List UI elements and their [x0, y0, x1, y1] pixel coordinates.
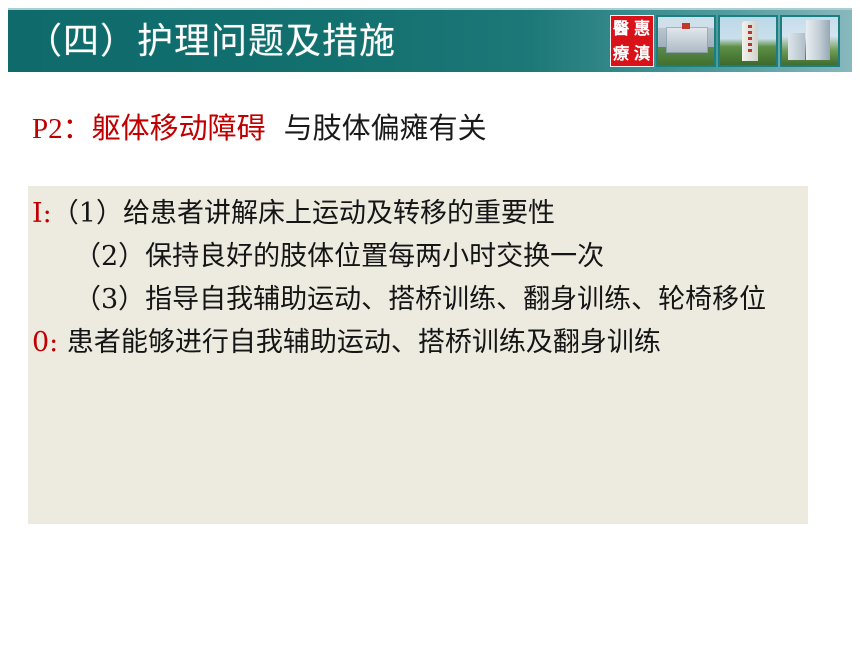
seal-char-1: 醫: [613, 20, 629, 36]
hospital-seal-logo: 醫 惠 療 滇: [610, 15, 654, 67]
problem-label: P2：: [32, 113, 92, 145]
seal-char-4: 滇: [634, 45, 650, 61]
page-title: （四）护理问题及措施: [26, 13, 396, 69]
intervention-line-3: （3）指导自我辅助运动、搭桥训练、翻身训练、轮椅移位: [32, 278, 800, 321]
intervention-text-1: （1）给患者讲解床上运动及转移的重要性: [52, 198, 555, 229]
slide-title-bar: （四）护理问题及措施 醫 惠 療 滇: [8, 8, 852, 72]
outcome-marker: 0:: [32, 327, 58, 358]
content-panel: I:（1）给患者讲解床上运动及转移的重要性 （2）保持良好的肢体位置每两小时交换…: [28, 186, 808, 524]
tower-monument-photo: [718, 15, 778, 67]
intervention-line-1: I:（1）给患者讲解床上运动及转移的重要性: [32, 192, 800, 235]
slide-root: （四）护理问题及措施 醫 惠 療 滇 P2：躯体移动障碍与肢体偏瘫有关 I:（1…: [0, 0, 860, 645]
highrise-building-photo: [780, 15, 840, 67]
intervention-marker: I:: [32, 198, 52, 229]
problem-key-text: 躯体移动障碍: [92, 111, 266, 145]
outcome-text-1: 患者能够进行自我辅助运动、搭桥训练及翻身训练: [67, 327, 661, 358]
content-inner: I:（1）给患者讲解床上运动及转移的重要性 （2）保持良好的肢体位置每两小时交换…: [28, 186, 808, 364]
hospital-building-photo: [656, 15, 716, 67]
logo-cluster: 醫 惠 療 滇: [610, 13, 840, 69]
intervention-text-3: （3）指导自我辅助运动、搭桥训练、翻身训练、轮椅移位: [74, 284, 766, 315]
seal-char-2: 惠: [634, 20, 650, 36]
problem-statement: P2：躯体移动障碍与肢体偏瘫有关: [32, 108, 822, 149]
problem-related-text: 与肢体偏瘫有关: [284, 111, 487, 145]
intervention-text-2: （2）保持良好的肢体位置每两小时交换一次: [74, 241, 604, 272]
outcome-line-1: 0: 患者能够进行自我辅助运动、搭桥训练及翻身训练: [32, 321, 800, 364]
intervention-line-2: （2）保持良好的肢体位置每两小时交换一次: [32, 235, 800, 278]
seal-char-3: 療: [613, 45, 629, 61]
